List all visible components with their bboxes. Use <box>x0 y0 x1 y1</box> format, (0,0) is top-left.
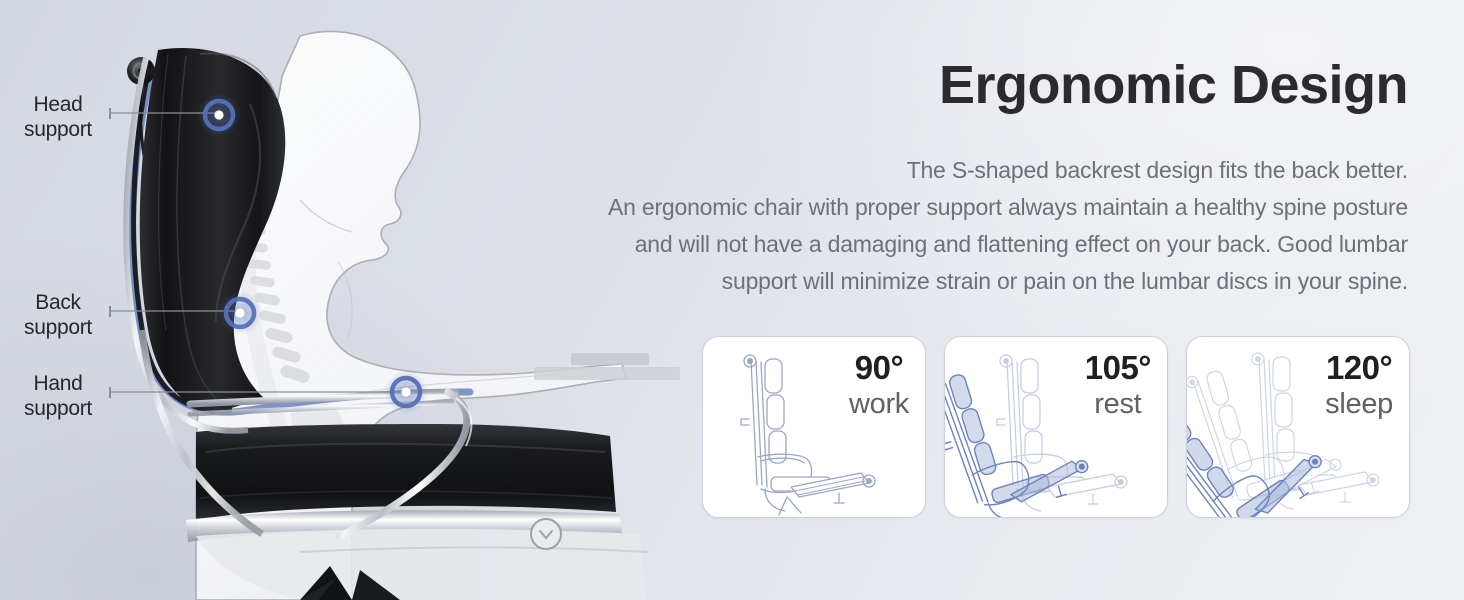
description-line-1: The S-shaped backrest design fits the ba… <box>468 152 1408 189</box>
description-paragraph: The S-shaped backrest design fits the ba… <box>468 152 1408 300</box>
ergonomic-design-banner: Head support Back support Hand support E… <box>0 0 1464 600</box>
angle-card-rest-label: rest <box>1085 390 1151 419</box>
angle-card-work-degrees: 90° <box>849 351 909 384</box>
angle-card-work-label: work <box>849 390 909 419</box>
marker-hand-support <box>384 370 428 414</box>
angle-card-work-text: 90° work <box>849 351 909 419</box>
recline-angle-cards: 90° work <box>702 336 1410 518</box>
angle-card-sleep-text: 120° sleep <box>1325 351 1393 419</box>
page-title: Ergonomic Design <box>939 58 1408 112</box>
description-line-2: An ergonomic chair with proper support a… <box>468 189 1408 226</box>
marker-back-support <box>218 291 262 335</box>
angle-card-rest-degrees: 105° <box>1085 351 1151 384</box>
angle-card-rest[interactable]: 105° rest <box>944 336 1168 518</box>
chair-product-illustration <box>0 0 760 600</box>
angle-card-rest-text: 105° rest <box>1085 351 1151 419</box>
seat-cushion <box>196 424 616 520</box>
angle-card-sleep[interactable]: 120° sleep <box>1186 336 1410 518</box>
angle-card-sleep-degrees: 120° <box>1325 351 1393 384</box>
marker-head-support <box>197 93 241 137</box>
angle-card-sleep-label: sleep <box>1325 390 1393 419</box>
description-line-4: support will minimize strain or pain on … <box>468 263 1408 300</box>
description-line-3: and will not have a damaging and flatten… <box>468 226 1408 263</box>
angle-card-work[interactable]: 90° work <box>702 336 926 518</box>
tilt-adjust-knob <box>531 519 561 549</box>
